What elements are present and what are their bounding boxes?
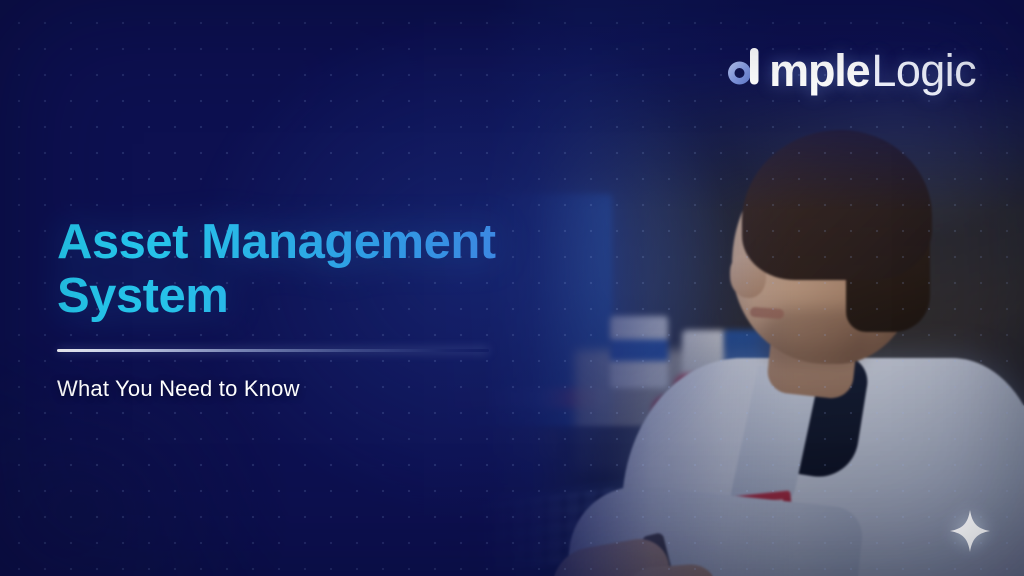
four-point-star-icon — [950, 510, 990, 552]
ample-a-monogram-icon — [722, 44, 768, 96]
page-title: Asset Management System — [57, 216, 657, 324]
title-block: Asset Management System What You Need to… — [57, 216, 657, 402]
brand-logo[interactable]: mple Logic — [722, 44, 976, 96]
hair — [742, 130, 932, 280]
logo-ample-text: mple — [769, 48, 869, 93]
gradient-rule — [57, 349, 489, 352]
logo-logic-text: Logic — [871, 48, 976, 93]
subtitle: What You Need to Know — [57, 376, 657, 402]
headline-line-2: System — [57, 270, 657, 324]
headline-line-1: Asset Management — [57, 215, 496, 269]
presentation-slide: mple Logic Asset Management System What … — [0, 0, 1024, 576]
